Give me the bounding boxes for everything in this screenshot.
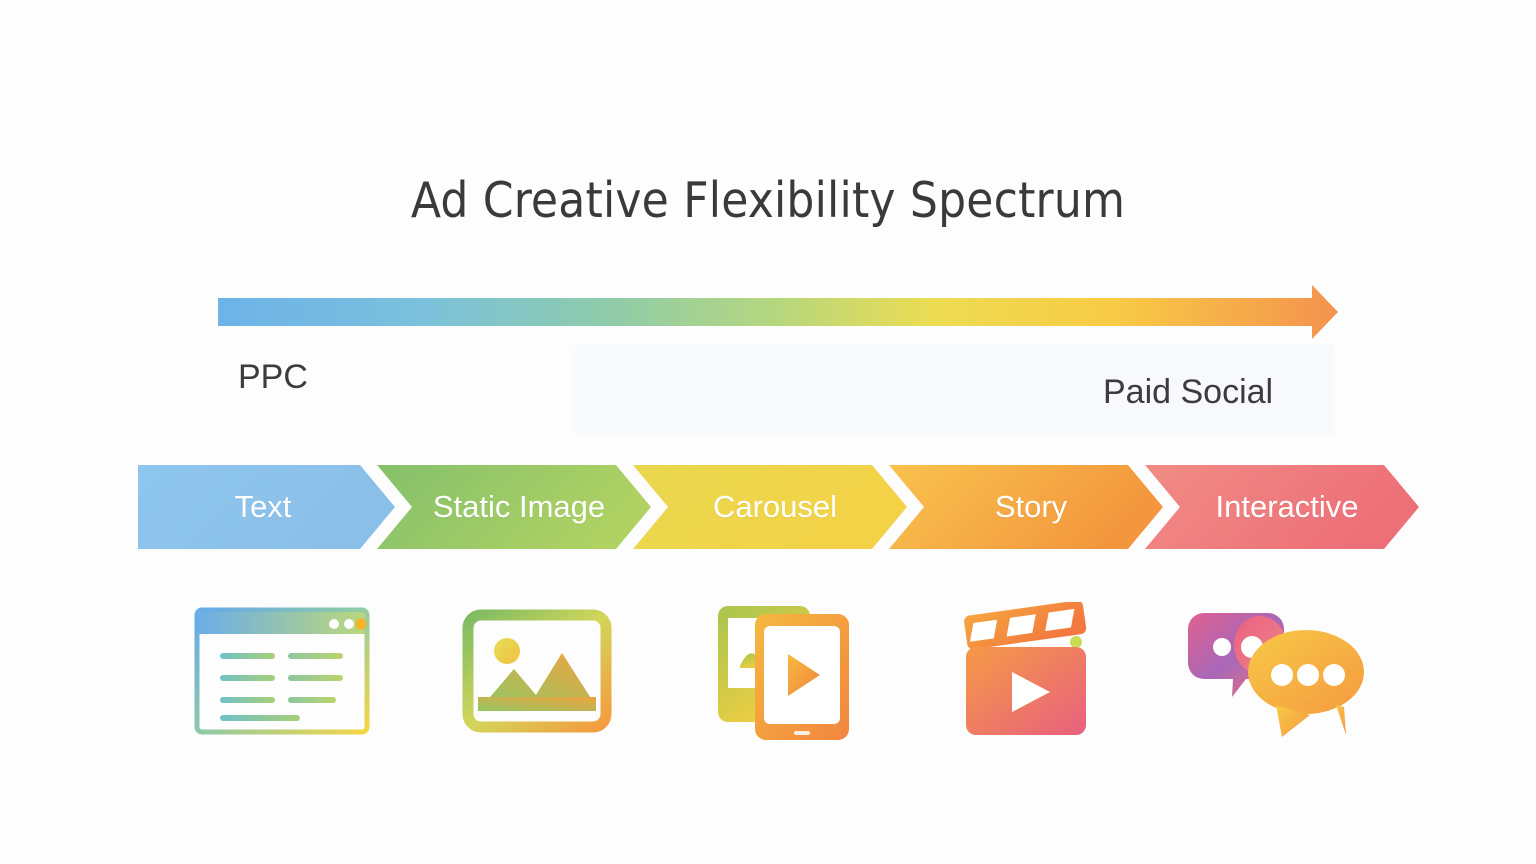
spectrum-left-label: PPC: [238, 358, 308, 397]
icon-cell-interactive[interactable]: [1193, 596, 1373, 746]
icon-cell-text[interactable]: [192, 596, 372, 746]
carousel-cards-play-icon: [714, 596, 854, 746]
icon-cell-static-image[interactable]: [447, 596, 627, 746]
spectrum-arrow: [218, 282, 1338, 342]
speech-bubbles-icon: [1188, 601, 1378, 741]
chevron-shape-1: [138, 465, 395, 549]
icon-cell-carousel[interactable]: [694, 596, 874, 746]
page-title: Ad Creative Flexibility Spectrum: [0, 172, 1536, 229]
icon-cell-story[interactable]: [938, 596, 1118, 746]
chevron-shape-5: [1145, 465, 1419, 549]
browser-window-text-icon: [192, 605, 372, 737]
diagram-canvas: Ad Creative Flexibility Spectrum PPC Pai…: [0, 0, 1536, 864]
chevron-shape-2: [377, 465, 651, 549]
spectrum-right-label: Paid Social: [1103, 373, 1273, 412]
stage-chevron-band: [138, 465, 1422, 549]
stage-icon-row: [138, 596, 1422, 746]
chevron-shape-4: [889, 465, 1163, 549]
chevron-shape-3: [633, 465, 907, 549]
picture-frame-icon: [462, 609, 612, 733]
clapperboard-play-icon: [958, 602, 1098, 740]
